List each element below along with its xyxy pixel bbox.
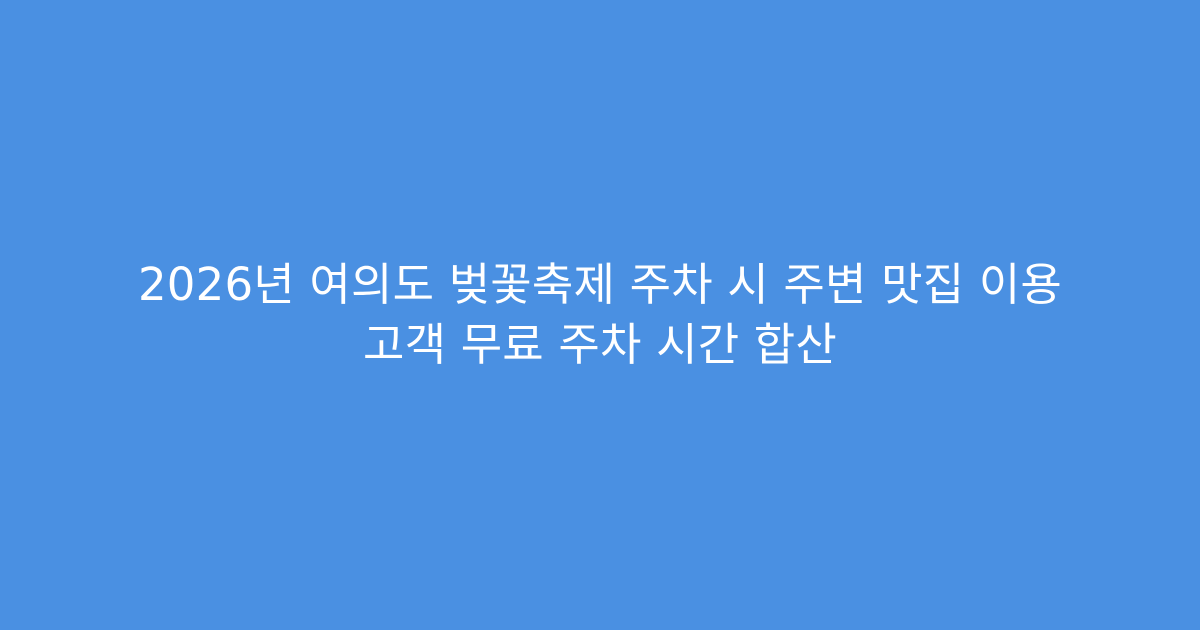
title-block: 2026년 여의도 벚꽃축제 주차 시 주변 맛집 이용 고객 무료 주차 시간… — [75, 255, 1125, 375]
og-card-canvas: 2026년 여의도 벚꽃축제 주차 시 주변 맛집 이용 고객 무료 주차 시간… — [0, 0, 1200, 630]
card-title: 2026년 여의도 벚꽃축제 주차 시 주변 맛집 이용 고객 무료 주차 시간… — [115, 255, 1085, 375]
